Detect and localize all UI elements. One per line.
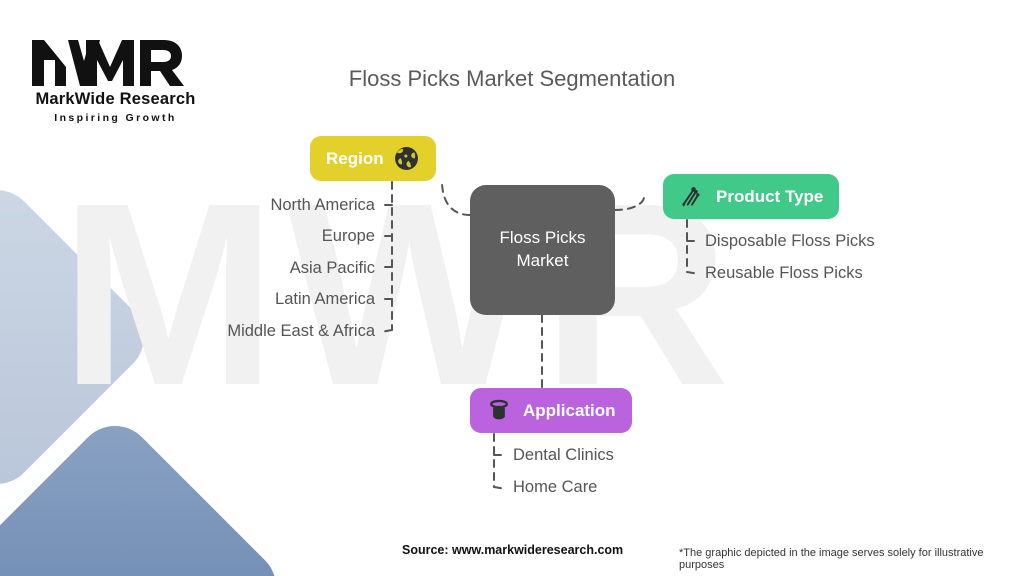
leaf-region-europe: Europe bbox=[120, 227, 375, 246]
segmentation-infographic: MWR MarkWide Research Inspiring Growth F… bbox=[0, 0, 1024, 576]
leaf-region-middle-east-africa: Middle East & Africa bbox=[120, 322, 375, 341]
badge-application[interactable]: Application bbox=[470, 388, 632, 433]
badge-application-label: Application bbox=[523, 401, 616, 421]
connector-application-leaf-1 bbox=[494, 487, 506, 489]
top-hat-icon bbox=[486, 398, 512, 424]
badge-region-label: Region bbox=[326, 149, 384, 169]
center-node: Floss Picks Market bbox=[470, 185, 615, 315]
disclaimer-text: *The graphic depicted in the image serve… bbox=[679, 547, 1024, 571]
center-node-label: Floss Picks Market bbox=[500, 227, 586, 273]
leaf-region-north-america: North America bbox=[120, 196, 375, 215]
leaf-application-home-care: Home Care bbox=[513, 478, 597, 497]
connector-product-leaf-1 bbox=[687, 272, 699, 274]
badge-region[interactable]: Region bbox=[310, 136, 436, 181]
badge-product-type-label: Product Type bbox=[716, 187, 823, 207]
center-node-line2: Market bbox=[517, 251, 569, 270]
badge-product-type[interactable]: Product Type bbox=[663, 174, 839, 219]
center-node-line1: Floss Picks bbox=[500, 228, 586, 247]
pins-icon bbox=[679, 184, 705, 210]
leaf-application-dental-clinics: Dental Clinics bbox=[513, 446, 614, 465]
connector-center-product bbox=[615, 197, 644, 210]
leaf-product-disposable-floss-picks: Disposable Floss Picks bbox=[705, 232, 875, 251]
leaf-region-asia-pacific: Asia Pacific bbox=[120, 259, 375, 278]
leaf-product-reusable-floss-picks: Reusable Floss Picks bbox=[705, 264, 863, 283]
leaf-region-latin-america: Latin America bbox=[120, 290, 375, 309]
globe-icon bbox=[394, 146, 420, 172]
connector-region-leaf-4 bbox=[381, 330, 392, 332]
source-text: Source: www.markwideresearch.com bbox=[402, 543, 623, 557]
connector-center-region bbox=[442, 181, 470, 215]
